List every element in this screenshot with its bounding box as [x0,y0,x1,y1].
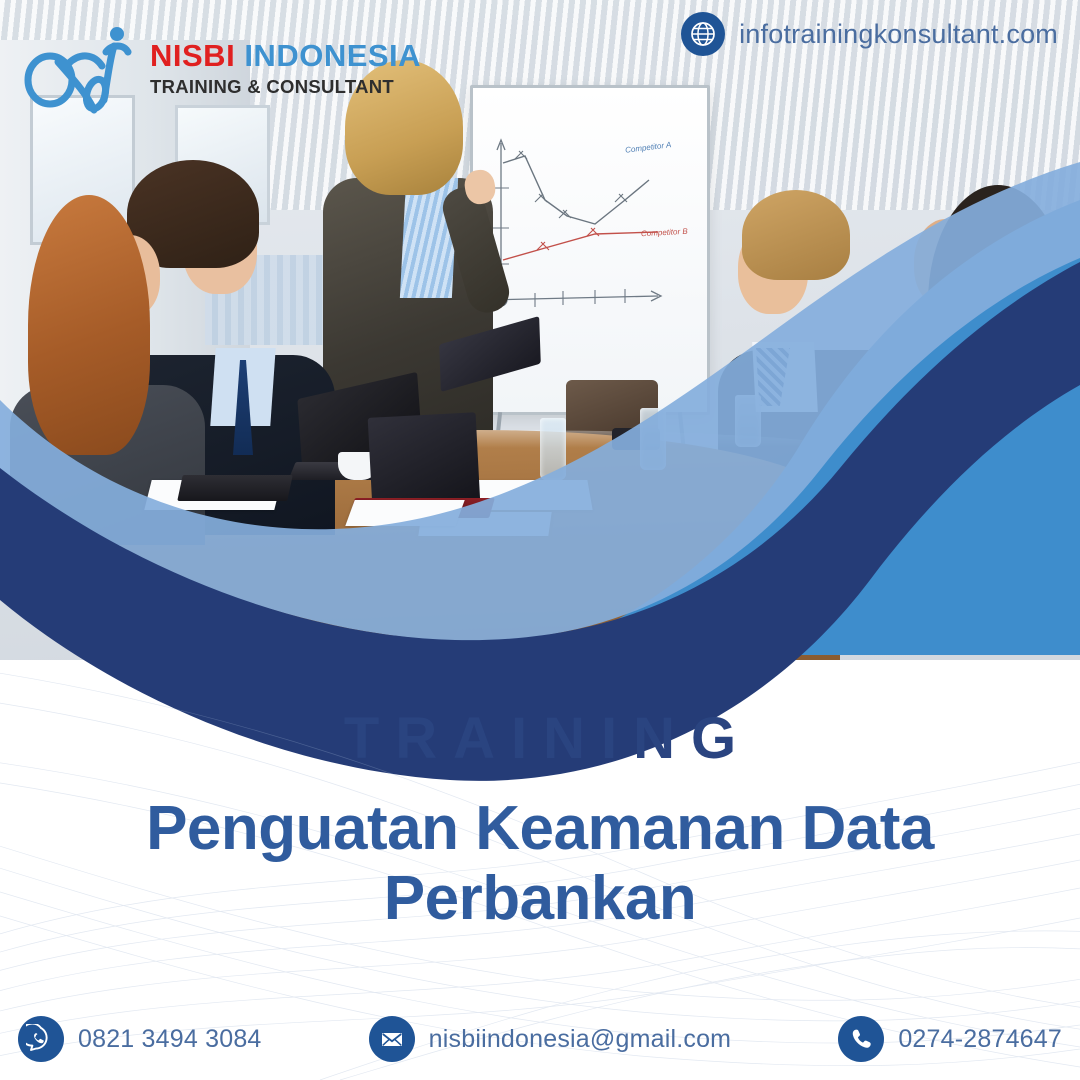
contact-email[interactable]: nisbiindonesia@gmail.com [369,1016,732,1062]
water-glass-2 [640,408,666,470]
poster-canvas: Competitor A Competitor B [0,0,1080,1080]
whatsapp-icon [18,1016,64,1062]
laptop-center [368,412,481,510]
brand-tagline: TRAINING & CONSULTANT [150,78,421,97]
phone-icon [838,1016,884,1062]
contact-footer: 0821 3494 3084 nisbiindonesia@gmail.com … [0,1016,1080,1062]
brand-logo[interactable]: NISBI INDONESIA TRAINING & CONSULTANT [22,18,421,118]
website-url-text: infotrainingkonsultant.com [739,19,1058,50]
notebook [177,475,293,501]
contact-whatsapp-text: 0821 3494 3084 [78,1025,262,1054]
contact-whatsapp[interactable]: 0821 3494 3084 [18,1016,262,1062]
contact-email-text: nisbiindonesia@gmail.com [429,1025,732,1054]
water-glass-3 [735,395,761,447]
attendee-woman-right [900,185,1080,485]
water-glass-1 [540,418,566,480]
brand-name-secondary: INDONESIA [244,38,421,73]
brand-name: NISBI INDONESIA [150,40,421,71]
contact-phone-text: 0274-2874647 [898,1025,1062,1054]
title-subject: Penguatan Keamanan Data Perbankan [0,794,1080,934]
paper-sheet-2 [345,500,464,526]
brand-name-primary: NISBI [150,38,235,73]
title-block: TRAINING Penguatan Keamanan Data Perbank… [0,705,1080,934]
attendee-woman-left [10,195,180,525]
nisbi-monogram-icon [22,18,142,118]
email-icon [369,1016,415,1062]
website-link[interactable]: infotrainingkonsultant.com [681,12,1058,56]
globe-icon [681,12,725,56]
title-kicker: TRAINING [0,705,1080,772]
contact-phone[interactable]: 0274-2874647 [838,1016,1062,1062]
